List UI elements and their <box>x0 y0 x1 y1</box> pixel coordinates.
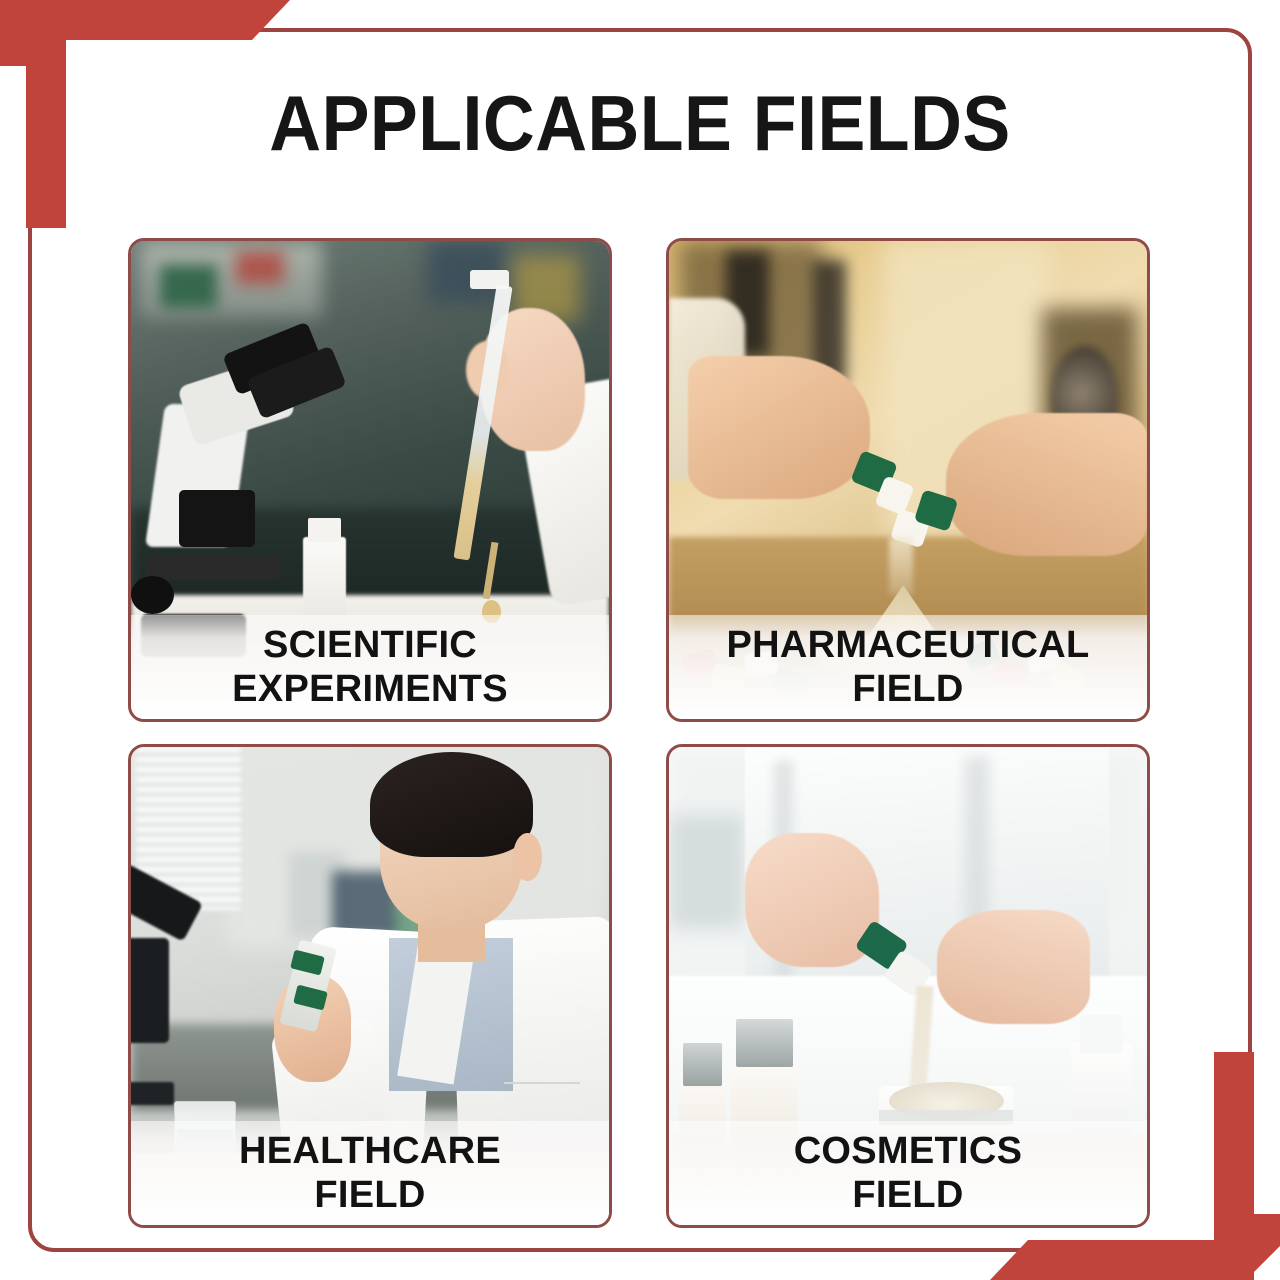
applicable-fields-grid: SCIENTIFIC EXPERIMENTS <box>128 238 1150 1238</box>
caption-line-2: EXPERIMENTS <box>232 667 508 711</box>
field-card-caption: SCIENTIFIC EXPERIMENTS <box>131 615 609 719</box>
caption-line-2: FIELD <box>314 1173 425 1217</box>
field-card-cosmetics-field[interactable]: COSMETICS FIELD <box>666 744 1150 1228</box>
hand-icon <box>937 910 1090 1025</box>
caption-line-2: FIELD <box>852 1173 963 1217</box>
caption-line-2: FIELD <box>852 667 963 711</box>
caption-line-1: SCIENTIFIC <box>263 623 477 667</box>
field-card-caption: PHARMACEUTICAL FIELD <box>669 615 1147 719</box>
field-card-healthcare-field[interactable]: HEALTHCARE FIELD <box>128 744 612 1228</box>
field-card-pharmaceutical-field[interactable]: PHARMACEUTICAL FIELD <box>666 238 1150 722</box>
field-card-caption: COSMETICS FIELD <box>669 1121 1147 1225</box>
hand-icon <box>688 356 870 499</box>
page-title: APPLICABLE FIELDS <box>51 84 1229 162</box>
caption-line-1: HEALTHCARE <box>239 1129 501 1173</box>
field-card-scientific-experiments[interactable]: SCIENTIFIC EXPERIMENTS <box>128 238 612 722</box>
field-card-caption: HEALTHCARE FIELD <box>131 1121 609 1225</box>
caption-line-1: PHARMACEUTICAL <box>726 623 1089 667</box>
caption-line-1: COSMETICS <box>794 1129 1023 1173</box>
poster: APPLICABLE FIELDS <box>0 0 1280 1280</box>
hand-icon <box>946 413 1147 556</box>
